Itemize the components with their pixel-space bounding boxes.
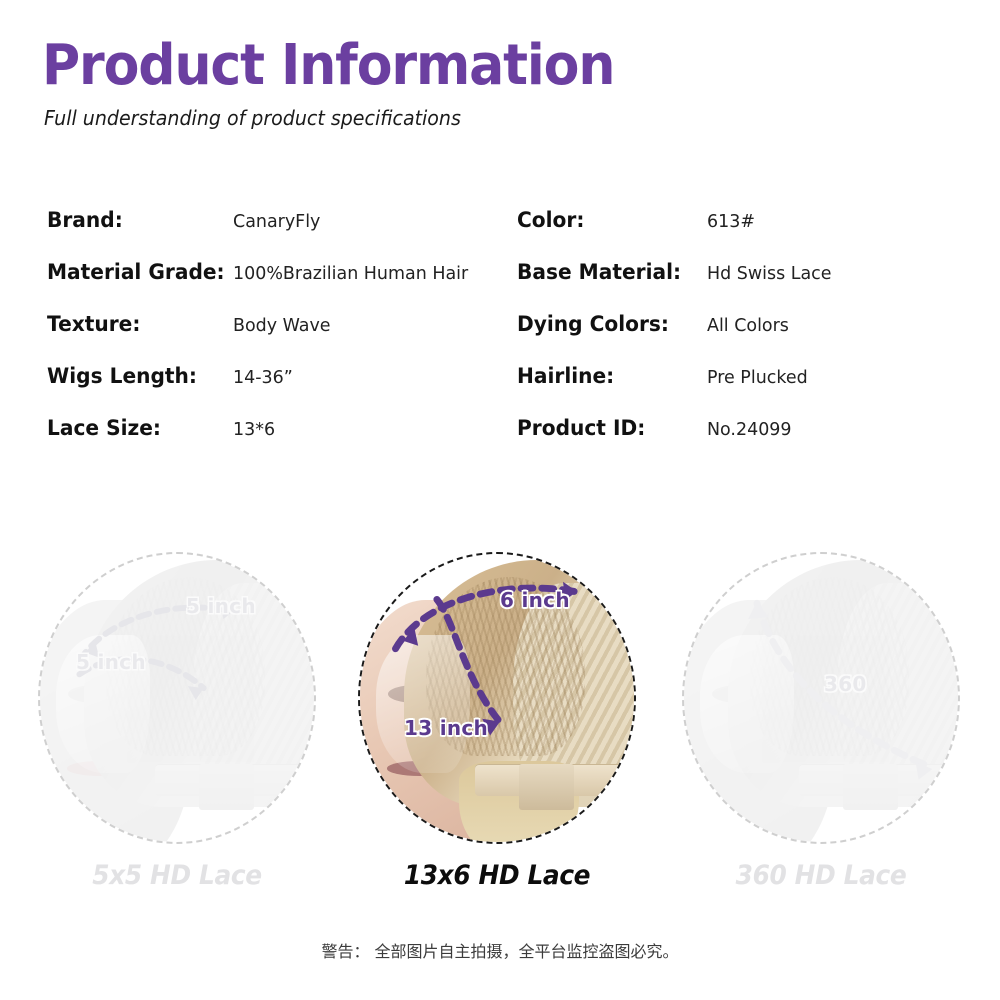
spec-column-left: Brand: CanaryFly Material Grade: 100%Bra… — [47, 208, 517, 468]
measure-label-side: 5 inch — [76, 650, 146, 674]
spec-label: Product ID: — [517, 416, 699, 440]
spec-value: 14-36” — [233, 367, 293, 388]
lace-option-360[interactable]: 360 360 HD Lace — [682, 552, 960, 891]
spec-row: Brand: CanaryFly — [47, 208, 517, 260]
lace-option-5x5[interactable]: 5 inch 5 inch 5x5 HD Lace — [38, 552, 316, 891]
lace-thumbnail-5x5[interactable]: 5 inch 5 inch — [38, 552, 316, 844]
measurement-arrows-icon — [360, 554, 634, 842]
spec-row: Dying Colors: All Colors — [517, 312, 977, 364]
measurement-arrows-icon — [684, 554, 958, 842]
spec-row: Base Material: Hd Swiss Lace — [517, 260, 977, 312]
spec-label: Hairline: — [517, 364, 699, 388]
copyright-warning: 警告： 全部图片自主拍摄，全平台监控盗图必究。 — [0, 938, 1000, 962]
spec-label: Brand: — [47, 208, 226, 232]
spec-row: Wigs Length: 14-36” — [47, 364, 517, 416]
spec-label: Lace Size: — [47, 416, 226, 440]
page-header: Product Information Full understanding o… — [42, 38, 942, 130]
spec-value: Pre Plucked — [707, 367, 808, 388]
spec-row: Texture: Body Wave — [47, 312, 517, 364]
spec-row: Material Grade: 100%Brazilian Human Hair — [47, 260, 517, 312]
page-title: Product Information — [42, 38, 879, 94]
page-subtitle: Full understanding of product specificat… — [44, 106, 897, 130]
spec-value: 100%Brazilian Human Hair — [233, 263, 468, 284]
specification-table: Brand: CanaryFly Material Grade: 100%Bra… — [0, 208, 1000, 468]
spec-label: Base Material: — [517, 260, 699, 284]
lace-option-gallery: 5 inch 5 inch 5x5 HD Lace — [0, 552, 1000, 902]
spec-value: No.24099 — [707, 419, 792, 440]
spec-row: Color: 613# — [517, 208, 977, 260]
measure-label-side: 13 inch — [404, 716, 488, 740]
lace-option-13x6[interactable]: 6 inch 13 inch 13x6 HD Lace — [358, 552, 636, 891]
measure-label-top: 360 — [824, 672, 867, 696]
spec-value: CanaryFly — [233, 211, 320, 232]
lace-thumbnail-13x6[interactable]: 6 inch 13 inch — [358, 552, 636, 844]
measure-label-top: 6 inch — [500, 588, 570, 612]
lace-thumbnail-360[interactable]: 360 — [682, 552, 960, 844]
spec-column-right: Color: 613# Base Material: Hd Swiss Lace… — [517, 208, 977, 468]
spec-value: 13*6 — [233, 419, 275, 440]
measure-label-top: 5 inch — [186, 594, 256, 618]
spec-value: Hd Swiss Lace — [707, 263, 831, 284]
spec-label: Dying Colors: — [517, 312, 699, 336]
lace-caption: 13x6 HD Lace — [369, 860, 625, 891]
spec-label: Texture: — [47, 312, 226, 336]
spec-label: Color: — [517, 208, 699, 232]
spec-label: Material Grade: — [47, 260, 226, 284]
spec-label: Wigs Length: — [47, 364, 226, 388]
spec-value: Body Wave — [233, 315, 331, 336]
spec-row: Lace Size: 13*6 — [47, 416, 517, 468]
lace-caption: 360 HD Lace — [693, 860, 949, 891]
spec-value: 613# — [707, 211, 755, 232]
spec-row: Product ID: No.24099 — [517, 416, 977, 468]
lace-caption: 5x5 HD Lace — [49, 860, 305, 891]
spec-value: All Colors — [707, 315, 789, 336]
spec-row: Hairline: Pre Plucked — [517, 364, 977, 416]
measurement-arrows-icon — [40, 554, 314, 842]
